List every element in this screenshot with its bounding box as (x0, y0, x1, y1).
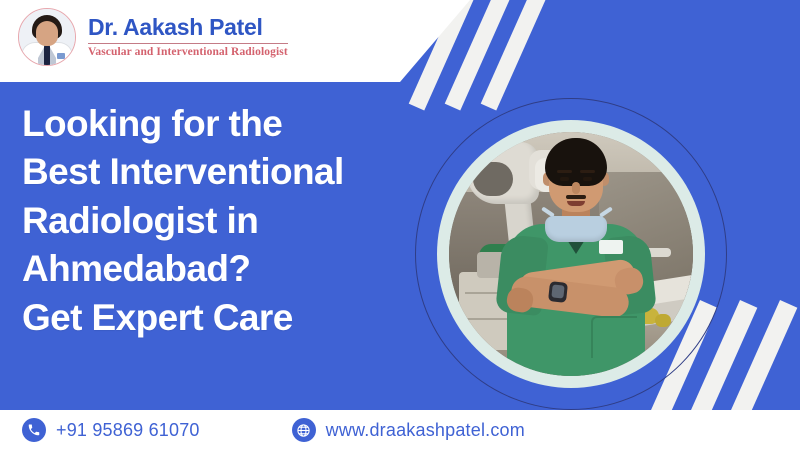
figure-scrub-logo (599, 240, 623, 254)
phone-contact[interactable]: +91 95869 61070 (22, 418, 200, 442)
figure-nose (572, 182, 580, 194)
brand-text: Dr. Aakash Patel Vascular and Interventi… (88, 16, 288, 59)
headline-line-3: Radiologist in (22, 197, 422, 245)
phone-number: +91 95869 61070 (56, 420, 200, 441)
brand-header: Dr. Aakash Patel Vascular and Interventi… (18, 8, 288, 66)
scene-c-arm-inner (473, 162, 513, 196)
headline: Looking for the Best Interventional Radi… (22, 100, 422, 342)
figure-eyebrow-right (580, 170, 595, 173)
headline-line-4: Ahmedabad? (22, 245, 422, 293)
brand-divider (88, 43, 288, 44)
figure-watch-face (551, 284, 564, 298)
stripe-top-2 (445, 0, 538, 110)
contact-footer: +91 95869 61070 www.draakashpatel.com (0, 410, 800, 450)
figure-eyebrow-left (557, 170, 572, 173)
figure-moustache (566, 195, 586, 199)
doctor-portrait (415, 98, 727, 410)
promo-banner: Dr. Aakash Patel Vascular and Interventi… (0, 0, 800, 450)
avatar-face (36, 21, 58, 46)
headline-line-2: Best Interventional (22, 148, 422, 196)
doctor-name: Dr. Aakash Patel (88, 16, 288, 39)
website-url: www.draakashpatel.com (326, 420, 525, 441)
globe-icon (292, 418, 316, 442)
avatar-badge (57, 53, 65, 59)
doctor-tagline: Vascular and Interventional Radiologist (88, 47, 288, 59)
website-contact[interactable]: www.draakashpatel.com (292, 418, 525, 442)
portrait-photo (449, 132, 693, 376)
avatar-tie (44, 45, 50, 66)
stripe-top-3 (481, 0, 574, 110)
figure-surgical-mask (545, 216, 607, 242)
figure-eye-right (583, 177, 592, 181)
logo-avatar (18, 8, 76, 66)
headline-line-1: Looking for the (22, 100, 422, 148)
figure-mouth (567, 201, 585, 206)
scene-equipment-yellow-2 (655, 314, 671, 327)
figure-scrub-pocket (591, 316, 637, 358)
phone-icon (22, 418, 46, 442)
headline-line-5: Get Expert Care (22, 294, 422, 342)
figure-eye-left (560, 177, 569, 181)
